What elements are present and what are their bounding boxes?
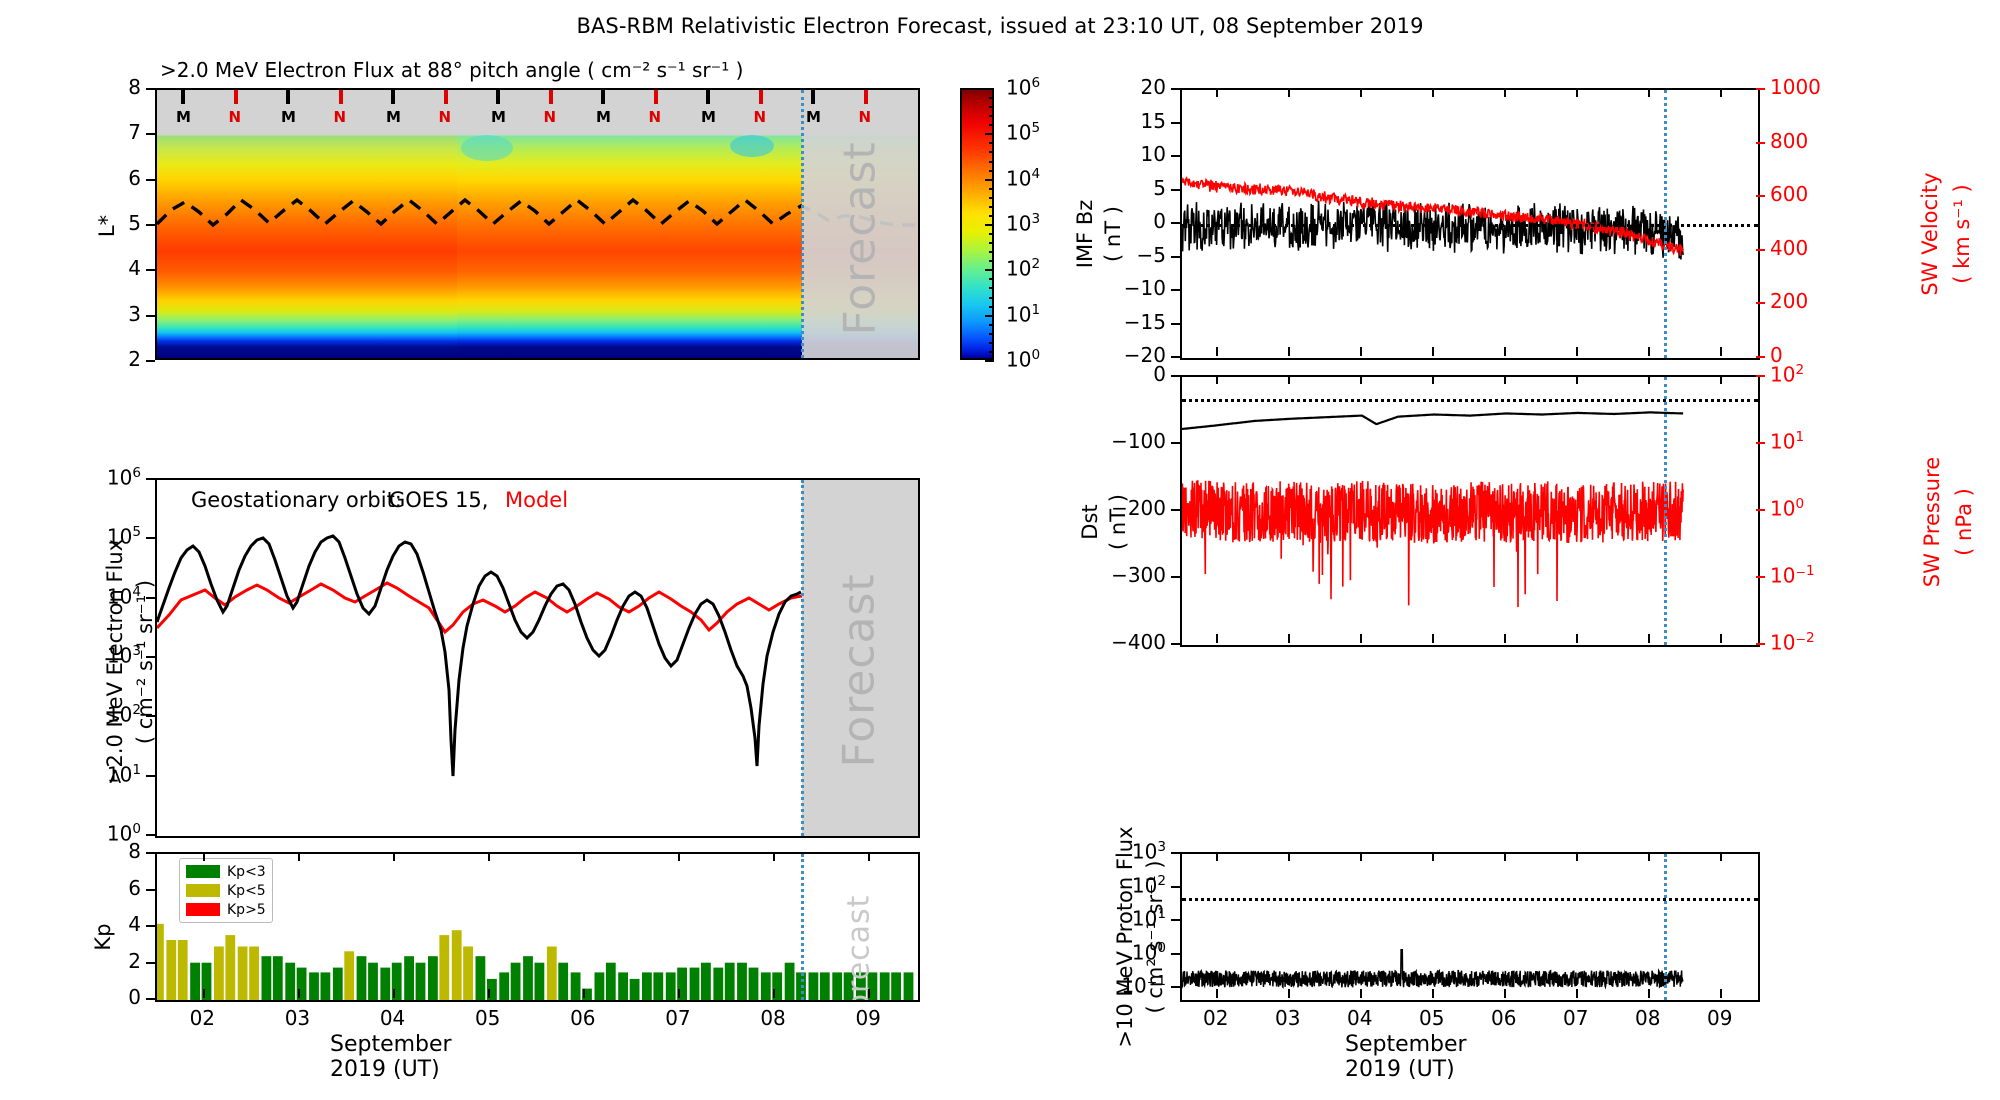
mn-label: M [491, 108, 506, 126]
mn-label: N [754, 108, 767, 126]
axis-tick [1504, 375, 1506, 384]
mn-label: N [334, 108, 347, 126]
sw-velocity-label-line1: SW Velocity [1918, 134, 1942, 334]
axis-tick-label: 6 [128, 166, 141, 190]
axis-tick-label: 02 [1203, 1006, 1228, 1030]
axis-tick [1288, 852, 1290, 861]
axis-tick-label: 05 [1419, 1006, 1444, 1030]
axis-tick [1171, 953, 1180, 955]
colorbar-tick [985, 315, 994, 317]
colorbar-tick [985, 88, 994, 90]
axis-tick-label: −400 [1111, 630, 1166, 654]
axis-tick-label: 02 [190, 1006, 215, 1030]
axis-tick-label: 04 [1347, 1006, 1372, 1030]
axis-tick [1648, 989, 1650, 998]
axis-tick [1360, 989, 1362, 998]
axis-tick [1171, 919, 1180, 921]
mn-tick [234, 90, 238, 104]
axis-tick [1216, 88, 1218, 97]
geo-legend-prefix: Geostationary orbit: [191, 488, 402, 512]
axis-tick [1171, 356, 1180, 358]
geo-legend-model: Model [505, 488, 568, 512]
axis-tick [1648, 852, 1650, 861]
axis-tick-label: 600 [1770, 182, 1808, 206]
axis-tick-label: 800 [1770, 129, 1808, 153]
axis-tick-label: 09 [1707, 1006, 1732, 1030]
axis-tick-label: 03 [285, 1006, 310, 1030]
axis-tick [146, 834, 155, 836]
axis-tick [1288, 375, 1290, 384]
axis-tick [1171, 88, 1180, 90]
axis-tick-label: 0 [1153, 209, 1166, 233]
axis-tick [1432, 634, 1434, 643]
colorbar-minor-tick [989, 215, 994, 217]
axis-tick [1288, 634, 1290, 643]
axis-tick-label: 1000 [1770, 75, 1821, 99]
colorbar-minor-tick [989, 324, 994, 326]
mn-tick [601, 90, 605, 104]
axis-tick-label: 102 [1770, 362, 1804, 387]
axis-tick-label: −10 [1124, 276, 1166, 300]
axis-tick [1360, 88, 1362, 97]
axis-tick [583, 852, 585, 861]
axis-tick-label: 4 [128, 912, 141, 936]
axis-tick [1504, 88, 1506, 97]
axis-tick-label: 08 [760, 1006, 785, 1030]
axis-tick-label: 05 [475, 1006, 500, 1030]
geo-plot-area: Forecast Geostationary orbit: GOES 15, M… [155, 478, 920, 838]
proton-y-label-line1: >10 MeV Proton Flux [1113, 797, 1137, 1077]
geo-goes-line [157, 536, 801, 776]
axis-tick [146, 179, 155, 181]
mn-label: N [859, 108, 872, 126]
axis-tick [488, 989, 490, 998]
colorbar-minor-tick [989, 97, 994, 99]
imf-y-label-line2: ( nT ) [1101, 134, 1125, 334]
colorbar-minor-tick [989, 233, 994, 235]
axis-tick [146, 360, 155, 362]
axis-tick-label: 2 [128, 347, 141, 371]
axis-tick [1288, 88, 1290, 97]
axis-tick [1576, 989, 1578, 998]
colorbar-minor-tick [989, 278, 994, 280]
colorbar-minor-tick [989, 188, 994, 190]
axis-tick-label: −15 [1124, 310, 1166, 334]
mn-label: N [544, 108, 557, 126]
mn-label: M [281, 108, 296, 126]
axis-tick-label: 5 [128, 211, 141, 235]
colorbar-tick-label: 101 [1006, 302, 1040, 327]
page-title: BAS-RBM Relativistic Electron Forecast, … [0, 14, 2000, 38]
axis-tick-label: 15 [1141, 109, 1166, 133]
dst-y-label-line1: Dst [1078, 422, 1102, 622]
colorbar-minor-tick [989, 142, 994, 144]
axis-tick [488, 852, 490, 861]
axis-tick [1576, 634, 1578, 643]
colorbar-minor-tick [989, 342, 994, 344]
axis-tick-label: 3 [128, 302, 141, 326]
axis-tick [1648, 347, 1650, 356]
axis-tick [773, 989, 775, 998]
axis-tick-label: 03 [1275, 1006, 1300, 1030]
axis-tick-label: 7 [128, 120, 141, 144]
colorbar-minor-tick [989, 206, 994, 208]
axis-tick [1171, 189, 1180, 191]
axis-tick-label: 5 [1153, 176, 1166, 200]
axis-tick [146, 962, 155, 964]
geo-forecast-divider [801, 480, 804, 836]
axis-tick [1216, 634, 1218, 643]
axis-tick [203, 852, 205, 861]
axis-tick [1504, 989, 1506, 998]
axis-tick [1720, 989, 1722, 998]
geo-y-axis-label-line1: >2.0 MeV Electron Flux [103, 512, 127, 812]
proton-x-axis-label: September 2019 (UT) [1345, 1032, 1467, 1082]
axis-tick [1288, 347, 1290, 356]
axis-tick-label: 10⁻2 [1770, 630, 1815, 655]
colorbar-tick [985, 133, 994, 135]
axis-tick [1360, 852, 1362, 861]
mn-label: M [701, 108, 716, 126]
axis-tick [146, 998, 155, 1000]
geo-y-axis-label-line2: ( cm⁻² s⁻¹ sr⁻¹ ) [133, 512, 157, 812]
axis-tick-label: −5 [1137, 243, 1166, 267]
mn-tick [759, 90, 763, 104]
axis-tick [393, 989, 395, 998]
axis-tick [1432, 989, 1434, 998]
axis-tick-label: 10⁻1 [1770, 563, 1815, 588]
axis-tick-label: 101 [1770, 429, 1804, 454]
sw-velocity-label-line2: ( km s⁻¹ ) [1950, 134, 1974, 334]
colorbar-minor-tick [989, 115, 994, 117]
axis-tick [678, 852, 680, 861]
dst-y-label-line2: ( nT ) [1106, 422, 1130, 622]
mn-label: M [806, 108, 821, 126]
axis-tick [583, 989, 585, 998]
axis-tick [1504, 634, 1506, 643]
sw-pressure-label-line2: ( nPa ) [1952, 422, 1976, 622]
lstar-forecast-divider [801, 90, 804, 358]
mn-tick [181, 90, 185, 104]
axis-tick [146, 889, 155, 891]
geo-legend-goes: GOES 15, [389, 488, 488, 512]
axis-tick [1216, 375, 1218, 384]
mn-tick [654, 90, 658, 104]
imf-x-axis [1180, 88, 1760, 360]
axis-tick [146, 133, 155, 135]
colorbar-tick-label: 105 [1006, 120, 1040, 145]
colorbar-minor-tick [989, 106, 994, 108]
axis-tick [1171, 986, 1180, 988]
axis-tick-label: 06 [1491, 1006, 1516, 1030]
axis-tick [1720, 88, 1722, 97]
axis-tick [1576, 347, 1578, 356]
dst-x-axis [1180, 375, 1760, 647]
axis-tick [1504, 852, 1506, 861]
axis-tick-label: 06 [570, 1006, 595, 1030]
proton-x-axis: 0203040506070809 [1180, 852, 1760, 1002]
axis-tick [1171, 886, 1180, 888]
axis-tick [1216, 989, 1218, 998]
lstar-panel-title: >2.0 MeV Electron Flux at 88° pitch angl… [160, 58, 743, 82]
mn-tick [864, 90, 868, 104]
axis-tick [1216, 852, 1218, 861]
colorbar-tick-label: 103 [1006, 211, 1040, 236]
axis-tick-label: 6 [128, 876, 141, 900]
kp-x-axis: 0203040506070809 [155, 852, 920, 1002]
axis-tick [1171, 576, 1180, 578]
colorbar-tick [985, 269, 994, 271]
axis-tick [1648, 634, 1650, 643]
axis-tick [1171, 375, 1180, 377]
colorbar-minor-tick [989, 251, 994, 253]
kp-x-axis-label: September 2019 (UT) [330, 1032, 452, 1082]
axis-tick [146, 315, 155, 317]
proton-y-label-line2: ( cm² s⁻¹ sr⁻¹ ) [1143, 797, 1167, 1077]
axis-tick-label: 08 [1635, 1006, 1660, 1030]
colorbar-minor-tick [989, 124, 994, 126]
axis-tick [1171, 852, 1180, 854]
axis-tick [1171, 323, 1180, 325]
lstar-plot-area: Forecast MNMNMNMNMNMNMN [155, 88, 920, 360]
axis-tick [868, 852, 870, 861]
axis-tick-label: 04 [380, 1006, 405, 1030]
axis-tick [1171, 256, 1180, 258]
axis-tick [1288, 989, 1290, 998]
colorbar-minor-tick [989, 151, 994, 153]
mn-tick [496, 90, 500, 104]
axis-tick [1432, 375, 1434, 384]
axis-tick [1432, 88, 1434, 97]
colorbar-tick [985, 224, 994, 226]
sw-pressure-label-line1: SW Pressure [1920, 422, 1944, 622]
axis-tick-label: 200 [1770, 289, 1808, 313]
axis-tick [146, 478, 155, 480]
axis-tick [773, 852, 775, 861]
colorbar-minor-tick [989, 170, 994, 172]
mn-label: N [229, 108, 242, 126]
kp-y-axis-label: Kp [91, 914, 115, 960]
mn-label: M [176, 108, 191, 126]
colorbar-minor-tick [989, 297, 994, 299]
mn-label: M [596, 108, 611, 126]
axis-tick [1171, 222, 1180, 224]
axis-tick-label: 100 [1770, 496, 1804, 521]
axis-tick [1216, 347, 1218, 356]
mn-label: M [386, 108, 401, 126]
mn-tick [444, 90, 448, 104]
axis-tick-label: 07 [665, 1006, 690, 1030]
imf-y-label-line1: IMF Bz [1073, 134, 1097, 334]
mn-tick [706, 90, 710, 104]
colorbar-tick-label: 100 [1006, 347, 1040, 372]
colorbar-minor-tick [989, 197, 994, 199]
axis-tick [203, 989, 205, 998]
axis-tick [1171, 122, 1180, 124]
colorbar-tick [985, 179, 994, 181]
mn-tick [391, 90, 395, 104]
axis-tick [298, 989, 300, 998]
axis-tick [1648, 375, 1650, 384]
colorbar-minor-tick [989, 287, 994, 289]
axis-tick [1720, 852, 1722, 861]
axis-tick [146, 88, 155, 90]
axis-tick [1720, 347, 1722, 356]
mn-label: N [439, 108, 452, 126]
colorbar-tick-label: 106 [1006, 75, 1040, 100]
mn-tick [811, 90, 815, 104]
axis-tick-label: 400 [1770, 236, 1808, 260]
axis-tick-label: 20 [1141, 75, 1166, 99]
colorbar-minor-tick [989, 351, 994, 353]
mn-tick [339, 90, 343, 104]
axis-tick [1648, 88, 1650, 97]
axis-tick [1576, 88, 1578, 97]
axis-tick [146, 925, 155, 927]
colorbar-minor-tick [989, 242, 994, 244]
axis-tick-label: 4 [128, 256, 141, 280]
colorbar-tick-label: 102 [1006, 256, 1040, 281]
colorbar-minor-tick [989, 161, 994, 163]
geo-forecast-watermark: Forecast [834, 568, 885, 768]
axis-tick [1360, 375, 1362, 384]
axis-tick-label: 07 [1563, 1006, 1588, 1030]
colorbar-tick [985, 360, 994, 362]
axis-tick [146, 224, 155, 226]
mn-label: N [649, 108, 662, 126]
axis-tick [1171, 509, 1180, 511]
axis-tick [1171, 289, 1180, 291]
axis-tick [1720, 634, 1722, 643]
axis-tick-label: 09 [855, 1006, 880, 1030]
colorbar-tick-label: 104 [1006, 166, 1040, 191]
axis-tick-label: 0 [128, 985, 141, 1009]
axis-tick-label: 8 [128, 75, 141, 99]
axis-tick [868, 989, 870, 998]
axis-tick [1720, 375, 1722, 384]
colorbar-minor-tick [989, 306, 994, 308]
axis-tick [1171, 155, 1180, 157]
colorbar-minor-tick [989, 260, 994, 262]
lstar-forecast-watermark: Forecast [835, 136, 886, 336]
colorbar-minor-tick [989, 333, 994, 335]
axis-tick-label: 106 [107, 465, 141, 490]
axis-tick [1360, 634, 1362, 643]
axis-tick [146, 269, 155, 271]
mn-tick [549, 90, 553, 104]
axis-tick [1171, 442, 1180, 444]
axis-tick [1360, 347, 1362, 356]
axis-tick [1171, 643, 1180, 645]
axis-tick [678, 989, 680, 998]
axis-tick [1576, 375, 1578, 384]
mn-tick [286, 90, 290, 104]
axis-tick-label: 0 [1153, 362, 1166, 386]
axis-tick-label: 2 [128, 949, 141, 973]
lstar-y-axis-label: L* [95, 206, 119, 246]
axis-tick-label: 8 [128, 839, 141, 863]
axis-tick [393, 852, 395, 861]
axis-tick [1432, 347, 1434, 356]
axis-tick [298, 852, 300, 861]
axis-tick [1504, 347, 1506, 356]
axis-tick [146, 852, 155, 854]
axis-tick-label: 10 [1141, 142, 1166, 166]
axis-tick [1432, 852, 1434, 861]
axis-tick [1576, 852, 1578, 861]
